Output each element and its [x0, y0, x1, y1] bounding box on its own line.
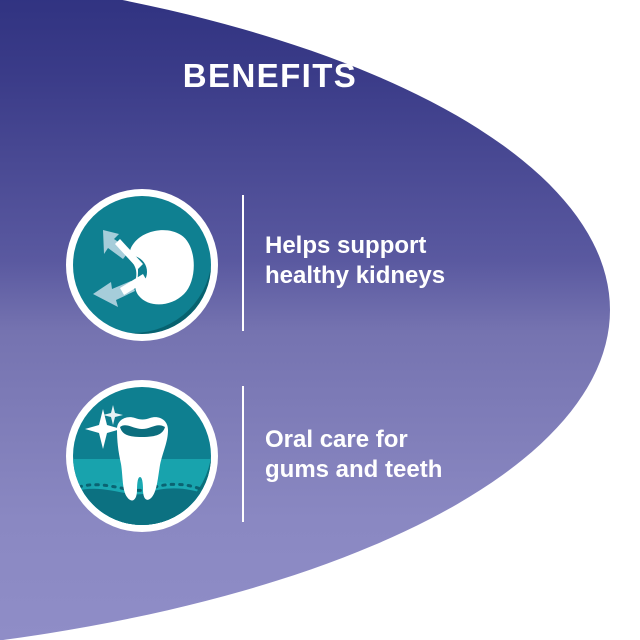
tooth-icon [73, 387, 211, 525]
benefit-label: Helps support healthy kidneys [265, 231, 445, 292]
gum-wave [77, 488, 207, 525]
connector-line [242, 195, 244, 331]
kidney-icon-badge [66, 189, 218, 341]
tooth-icon-badge [66, 380, 218, 532]
benefit-row [66, 189, 218, 341]
page-title: BENEFITS [0, 57, 540, 95]
benefit-row [66, 380, 218, 532]
benefit-label: Oral care for gums and teeth [265, 425, 442, 486]
badge-disc [73, 387, 211, 525]
connector-line [242, 386, 244, 522]
kidney-icon [73, 196, 211, 334]
benefits-panel: BENEFITS [0, 0, 640, 640]
badge-disc [73, 196, 211, 334]
